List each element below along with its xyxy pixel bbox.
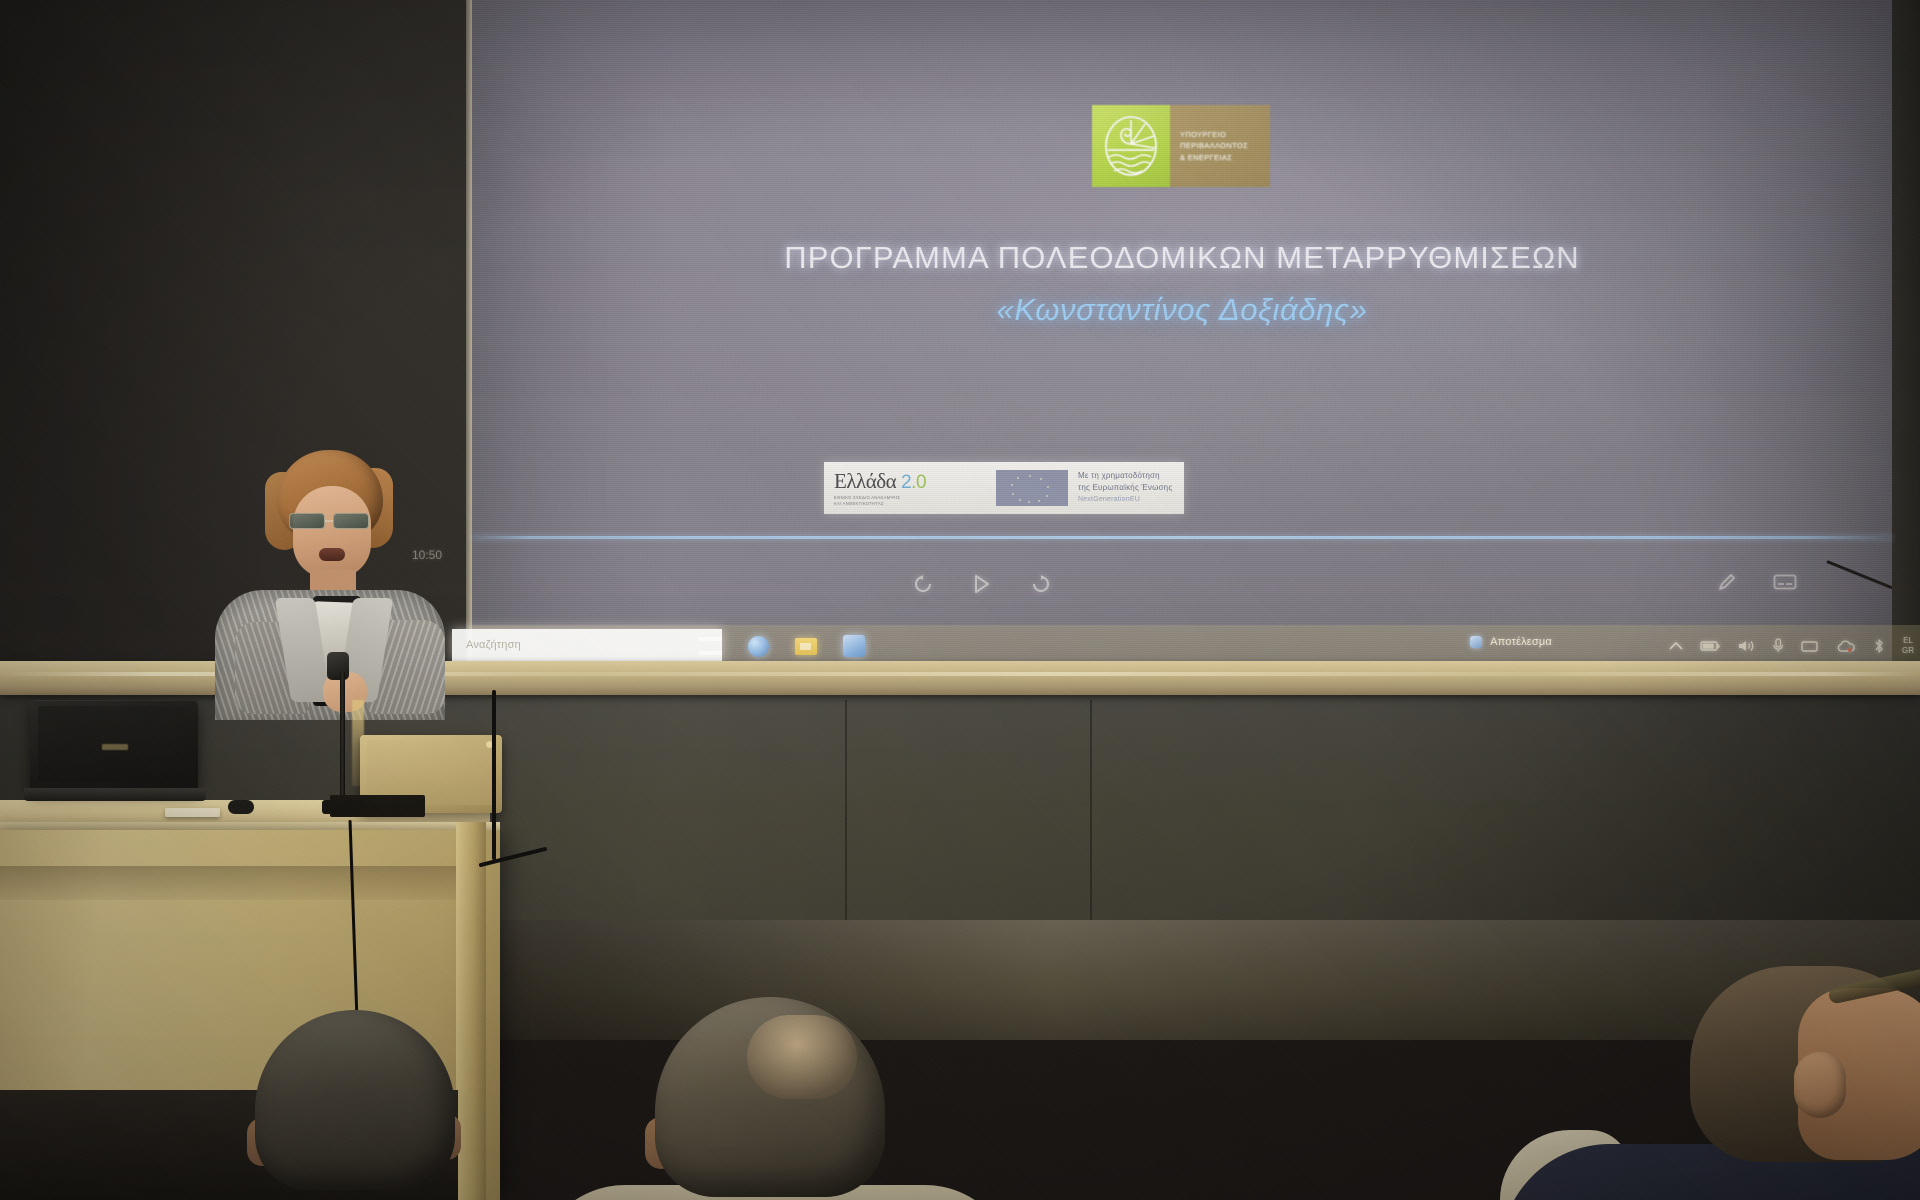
ministry-environment-energy-logo-icon [1092,105,1170,187]
ministry-logo: ΥΠΟΥΡΓΕΙΟ ΠΕΡΙΒΑΛΛΟΝΤΟΣ & ΕΝΕΡΓΕΙΑΣ [1092,105,1270,187]
laptop-base [24,788,206,801]
fast-forward-icon[interactable] [1030,575,1052,598]
app-icon [1470,636,1482,648]
right-wall-strip [1890,0,1920,690]
funding-bar: Ελλάδα 2.0 ΕΘΝΙΚΟ ΣΧΕΔΙΟ ΑΝΑΚΑΜΨΗΣ ΚΑΙ Α… [824,462,1184,514]
greece-tagline-line-2: ΚΑΙ ΑΝΘΕΚΤΙΚΟΤΗΤΑΣ [834,501,986,507]
microphone-head [327,652,349,680]
ministry-line-3: & ΕΝΕΡΓΕΙΑΣ [1180,153,1270,162]
pen-icon[interactable] [1717,572,1737,597]
ministry-logo-text: ΥΠΟΥΡΓΕΙΟ ΠΕΡΙΒΑΛΛΟΝΤΟΣ & ΕΝΕΡΓΕΙΑΣ [1170,105,1270,187]
language-line-1: EL [1903,636,1913,645]
audience-member-1 [255,1010,460,1200]
microphone-base [322,800,364,814]
edge-browser-icon[interactable] [745,633,771,659]
taskbar-notification-label: Αποτέλεσμα [1490,636,1552,648]
laptop-icon [30,700,200,805]
microphone-icon[interactable] [1772,638,1784,654]
onedrive-icon[interactable] [1836,640,1856,653]
language-indicator[interactable]: EL GR [1902,636,1914,655]
european-union-flag-icon [996,470,1068,506]
rewind-icon[interactable] [912,575,934,598]
task-view-icon[interactable] [697,633,723,659]
microphone-stand [340,672,345,808]
audience-2-head [655,997,885,1197]
chevron-up-icon[interactable] [1669,641,1683,651]
network-icon[interactable] [1801,640,1819,653]
podium-groove [0,866,483,900]
projection-screen: ΥΠΟΥΡΓΕΙΟ ΠΕΡΙΒΑΛΛΟΝΤΟΣ & ΕΝΕΡΓΕΙΑΣ ΠΡΟΓ… [472,0,1892,695]
mouse-icon [228,800,254,814]
taskbar-pinned-apps[interactable] [697,628,867,664]
audience-3-ear [1794,1052,1846,1118]
greece-tagline-line-1: ΕΘΝΙΚΟ ΣΧΕΔΙΟ ΑΝΑΚΑΜΨΗΣ [834,495,986,501]
screen-texture [472,0,1892,695]
file-explorer-icon[interactable] [793,633,819,659]
face [293,486,371,578]
laptop-lid [30,700,198,790]
laptop-brand-logo [102,744,128,750]
slideshow-divider [472,536,1892,539]
eu-text-line-1: Με τη χρηματοδότηση [1078,471,1172,482]
search-placeholder: Αναζήτηση [466,639,521,651]
subtitles-icon[interactable] [1773,573,1797,596]
eu-funding-text: Με τη χρηματοδότηση της Ευρωπαϊκής Ένωση… [1078,471,1172,504]
cable-2 [492,690,496,860]
eu-text-line-3: NextGenerationEU [1078,495,1172,504]
taskbar-notification[interactable]: Αποτέλεσμα [1470,636,1552,648]
media-controls[interactable] [912,575,1052,598]
slide-subtitle: «Κωνσταντίνος Δοξιάδης» [472,292,1892,328]
greece-2-0-logo: Ελλάδα 2.0 ΕΘΝΙΚΟ ΣΧΕΔΙΟ ΑΝΑΚΑΜΨΗΣ ΚΑΙ Α… [834,469,986,508]
bluetooth-icon[interactable] [1873,638,1885,654]
audience-member-3 [1630,966,1920,1200]
greece-logo-tagline: ΕΘΝΙΚΟ ΣΧΕΔΙΟ ΑΝΑΚΑΜΨΗΣ ΚΑΙ ΑΝΘΕΚΤΙΚΟΤΗΤ… [834,495,986,508]
powerpoint-slide: ΥΠΟΥΡΓΕΙΟ ΠΕΡΙΒΑΛΛΟΝΤΟΣ & ΕΝΕΡΓΕΙΑΣ ΠΡΟΓ… [472,0,1892,640]
presentation-room-photo: ΥΠΟΥΡΓΕΙΟ ΠΕΡΙΒΑΛΛΟΝΤΟΣ & ΕΝΕΡΓΕΙΑΣ ΠΡΟΓ… [0,0,1920,1200]
audience-2-scalp [747,1015,857,1099]
laser-pointer-icon [1826,560,1892,589]
greece-logo-version: 2.0 [901,472,926,494]
greece-logo-name: Ελλάδα [834,469,896,494]
language-line-2: GR [1902,646,1914,655]
mouth [319,548,345,561]
play-icon[interactable] [974,575,990,598]
volume-icon[interactable] [1737,639,1755,653]
paper-on-desk [165,808,220,817]
system-tray[interactable]: EL GR [1669,628,1914,664]
battery-icon[interactable] [1700,640,1720,652]
ministry-line-1: ΥΠΟΥΡΓΕΙΟ [1180,130,1270,139]
audience-1-head [255,1010,455,1190]
slide-title: ΠΡΟΓΡΑΜΜΑ ΠΟΛΕΟΔΟΜΙΚΩΝ ΜΕΤΑΡΡΥΘΜΙΣΕΩΝ [472,240,1892,276]
audience-member-2 [655,997,890,1200]
presentation-tools[interactable] [1717,572,1797,597]
search-input[interactable]: Αναζήτηση [452,629,722,661]
eu-text-line-2: της Ευρωπαϊκής Ένωσης [1078,483,1172,494]
powerpoint-icon[interactable] [841,633,867,659]
eyeglasses-icon [289,512,379,530]
ministry-line-2: ΠΕΡΙΒΑΛΛΟΝΤΟΣ [1180,141,1270,150]
